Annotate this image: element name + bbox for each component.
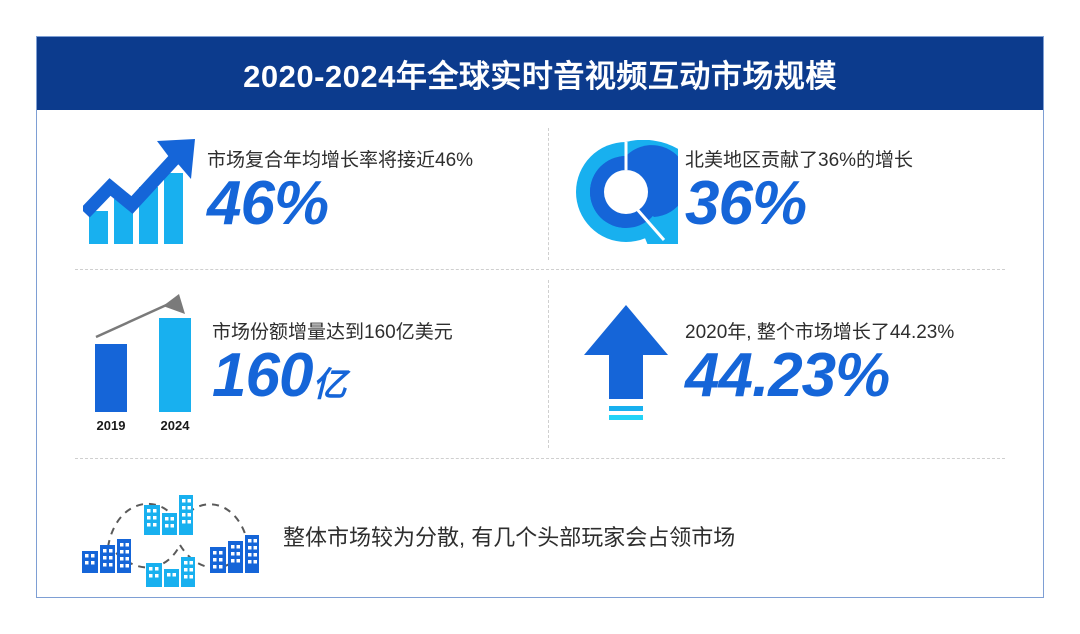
city-cluster-top (144, 495, 193, 535)
divider-vertical-top (548, 128, 549, 260)
divider-horizontal-1 (75, 269, 1005, 270)
stat-cell-market-share: 2019 2024 市场份额增量达到160亿美元 160亿 (77, 278, 547, 450)
infographic-card: 2020-2024年全球实时音视频互动市场规模 (36, 36, 1044, 598)
stat-value-wrap: 160亿 (212, 345, 547, 407)
bottom-note: 整体市场较为分散, 有几个头部玩家会占领市场 (283, 520, 1027, 552)
page-title: 2020-2024年全球实时音视频互动市场规模 (243, 51, 837, 96)
city-cluster-bottom (146, 557, 195, 587)
bottom-text-slot: 整体市场较为分散, 有几个头部玩家会占领市场 (283, 520, 1027, 552)
stat-cell-north-america: 北美地区贡献了36%的增长 36% (567, 122, 1027, 262)
stat-text-cagr: 市场复合年均增长率将接近46% 46% (207, 149, 547, 235)
growth-chart-icon-svg (83, 137, 201, 247)
donut-chart-icon-svg (574, 140, 678, 244)
stat-value-unit: 亿 (312, 366, 346, 404)
stat-cell-market-fragmentation: 整体市场较为分散, 有几个头部玩家会占领市场 (77, 482, 1027, 590)
stat-cell-market-growth: 2020年, 整个市场增长了44.23% 44.23% (567, 278, 1027, 450)
stat-value: 44.23% (685, 345, 1027, 407)
city-network-icon-svg (80, 483, 280, 589)
infographic-canvas: 2020-2024年全球实时音视频互动市场规模 (0, 0, 1080, 634)
card-body: 市场复合年均增长率将接近46% 46% (37, 110, 1043, 599)
card-header: 2020-2024年全球实时音视频互动市场规模 (37, 37, 1043, 110)
donut-chart-icon (567, 135, 685, 250)
bar-label-2024: 2024 (160, 418, 190, 433)
stat-value: 36% (685, 173, 1027, 235)
bar-chart-icon: 2019 2024 (77, 289, 212, 439)
bar-chart-icon-svg: 2019 2024 (81, 292, 209, 437)
divider-vertical-bottom (548, 280, 549, 448)
divider-horizontal-2 (75, 458, 1005, 459)
stat-cell-cagr: 市场复合年均增长率将接近46% 46% (77, 122, 547, 262)
stat-text-market-share: 市场份额增量达到160亿美元 160亿 (212, 321, 547, 407)
stat-value: 160 (212, 341, 312, 410)
bar-label-2019: 2019 (96, 418, 125, 433)
up-arrow-icon (567, 299, 685, 429)
stat-value: 46% (207, 173, 547, 235)
stat-text-north-america: 北美地区贡献了36%的增长 36% (685, 149, 1027, 235)
stat-text-market-growth: 2020年, 整个市场增长了44.23% 44.23% (685, 321, 1027, 407)
growth-chart-icon (77, 132, 207, 252)
up-arrow-icon-svg (583, 303, 669, 425)
city-network-icon (77, 482, 283, 590)
